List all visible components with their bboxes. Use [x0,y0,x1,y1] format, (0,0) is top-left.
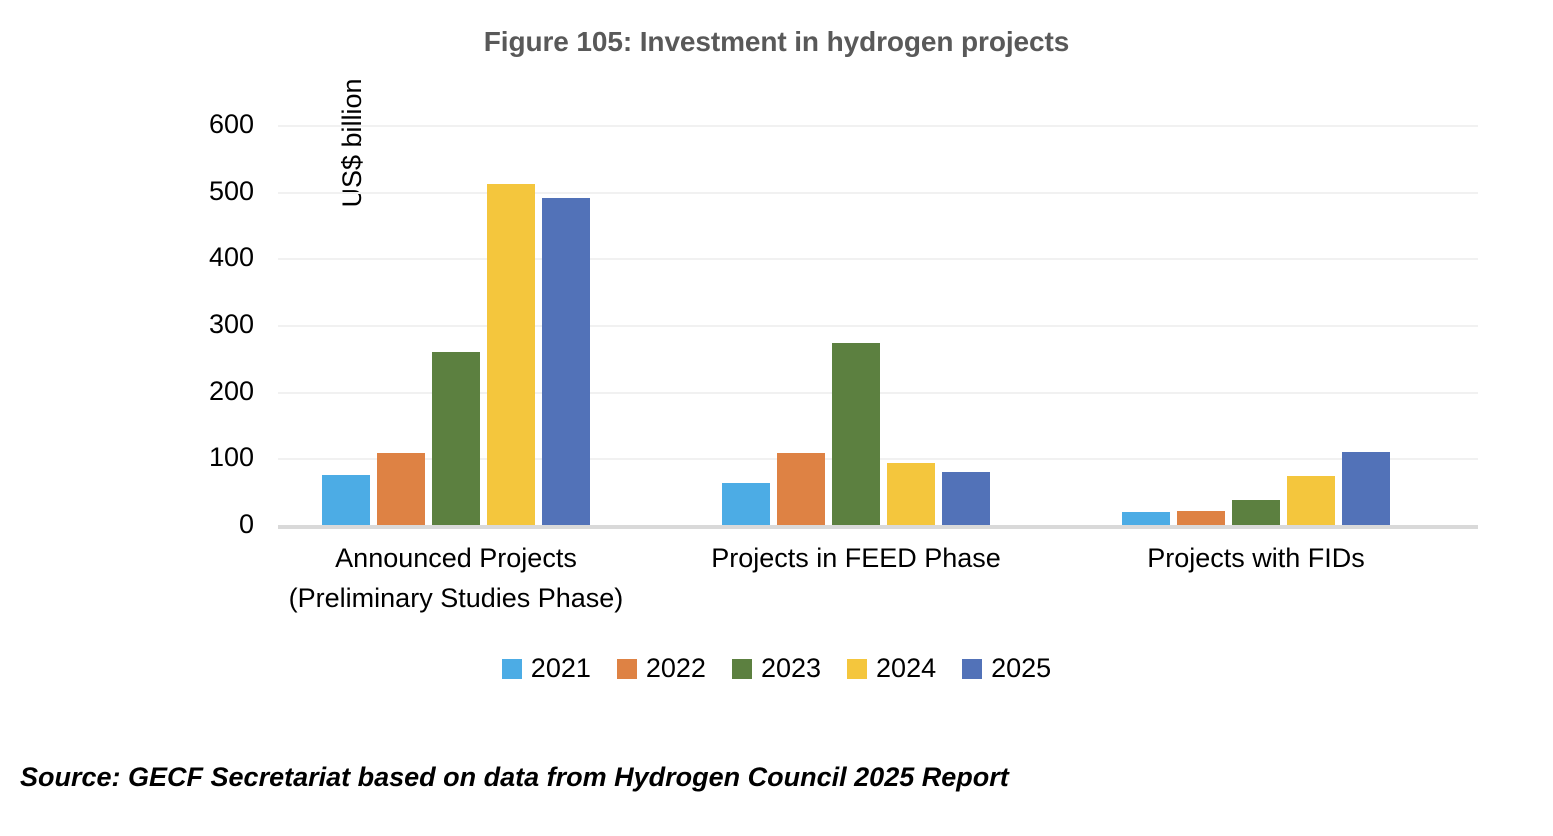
legend-item-2022[interactable]: 2022 [617,655,706,682]
bar-2023-cat2 [832,343,880,525]
bar-2022-cat2 [777,453,825,525]
legend-label: 2023 [761,655,821,682]
bar-2025-cat2 [942,472,990,525]
legend-swatch-icon [847,659,867,679]
legend-swatch-icon [732,659,752,679]
legend-item-2024[interactable]: 2024 [847,655,936,682]
bar-2022-cat1 [377,453,425,525]
bar-2021-cat3 [1122,512,1170,525]
bar-2024-cat1 [487,184,535,525]
gridline [278,258,1478,260]
legend-label: 2025 [991,655,1051,682]
bar-2024-cat2 [887,463,935,525]
bar-2025-cat1 [542,198,590,525]
bar-2023-cat1 [432,352,480,525]
category-label-line: Projects with FIDs [1006,538,1506,578]
y-axis-tick-label: 300 [190,311,254,338]
legend-swatch-icon [502,659,522,679]
legend-label: 2024 [876,655,936,682]
y-axis-tick-label: 0 [190,511,254,538]
legend: 20212022202320242025 [0,655,1553,682]
x-axis-category-labels: Announced Projects(Preliminary Studies P… [278,538,1478,634]
y-axis-tick-label: 400 [190,244,254,271]
legend-swatch-icon [962,659,982,679]
bar-2021-cat1 [322,475,370,525]
legend-label: 2022 [646,655,706,682]
x-axis-category-label: Projects with FIDs [1006,538,1506,578]
source-caption: Source: GECF Secretariat based on data f… [20,762,1009,793]
bar-2023-cat3 [1232,500,1280,525]
bar-2025-cat3 [1342,452,1390,525]
category-label-line: (Preliminary Studies Phase) [206,578,706,618]
bar-2024-cat3 [1287,476,1335,525]
y-axis-tick-label: 200 [190,378,254,405]
y-axis-title: US$ billion [152,0,188,161]
y-axis-tick-label: 100 [190,444,254,471]
gridline [278,125,1478,127]
y-axis-tick-labels: 6005004003002001000 [195,125,265,525]
plot-area [278,125,1478,525]
figure-container: Figure 105: Investment in hydrogen proje… [0,0,1553,836]
gridline [278,325,1478,327]
gridline [278,192,1478,194]
bar-2022-cat3 [1177,511,1225,525]
y-axis-tick-label: 600 [190,111,254,138]
bar-2021-cat2 [722,483,770,525]
y-axis-tick-label: 500 [190,178,254,205]
legend-item-2021[interactable]: 2021 [502,655,591,682]
x-axis-line [278,525,1478,529]
legend-label: 2021 [531,655,591,682]
legend-item-2025[interactable]: 2025 [962,655,1051,682]
page-title: Figure 105: Investment in hydrogen proje… [0,26,1553,58]
legend-item-2023[interactable]: 2023 [732,655,821,682]
legend-swatch-icon [617,659,637,679]
